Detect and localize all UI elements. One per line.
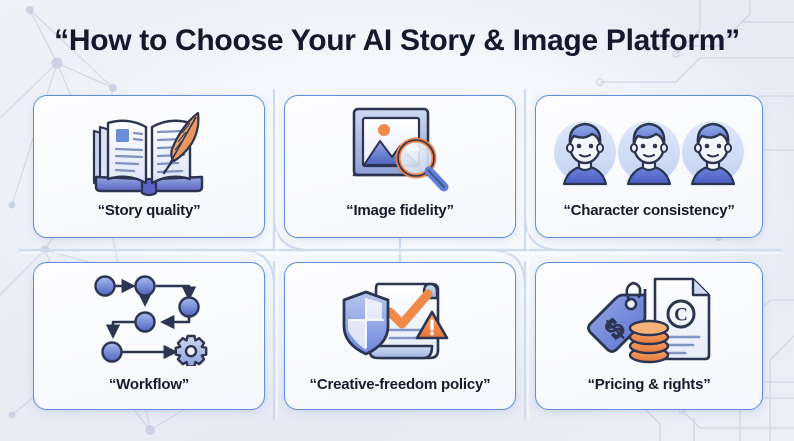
flowchart-nodes-with-gear-icon — [87, 274, 211, 366]
card-icon-slot: C S — [536, 263, 762, 376]
svg-text:C: C — [674, 304, 688, 325]
framed-picture-with-magnifier-icon — [344, 101, 456, 197]
flow-node-1 — [96, 276, 115, 295]
card-image-fidelity[interactable]: “Image fidelity” — [284, 95, 516, 238]
card-label: “Workflow” — [109, 376, 189, 409]
card-label: “Character consistency” — [563, 202, 734, 237]
card-icon-slot — [285, 96, 515, 202]
open-book-with-quill-icon — [86, 101, 212, 197]
price-tag-coins-copyright-doc-icon: C S — [581, 273, 717, 367]
card-icon-slot — [34, 263, 264, 376]
gear-icon — [176, 336, 206, 366]
card-creative-freedom-policy[interactable]: “Creative-freedom policy” — [284, 262, 516, 410]
avatar-3 — [682, 121, 744, 184]
card-character-consistency[interactable]: “Character consistency” — [535, 95, 763, 238]
flow-node-3 — [180, 297, 199, 316]
coin-stack-icon — [630, 321, 668, 362]
flow-node-4 — [136, 312, 155, 331]
infographic-canvas: “How to Choose Your AI Story & Image Pla… — [0, 0, 794, 441]
card-label: “Story quality” — [98, 202, 201, 237]
three-identical-avatars-icon — [554, 107, 744, 191]
card-label: “Image fidelity” — [346, 202, 454, 237]
card-icon-slot — [285, 263, 515, 376]
page-title: “How to Choose Your AI Story & Image Pla… — [0, 24, 794, 58]
shield-document-check-warning-icon — [336, 272, 464, 368]
avatar-2 — [618, 121, 680, 184]
card-icon-slot — [34, 96, 264, 202]
flow-node-2 — [136, 276, 155, 295]
card-label: “Pricing & rights” — [587, 376, 710, 409]
flow-node-5 — [103, 342, 122, 361]
card-icon-slot — [536, 96, 762, 202]
avatar-1 — [554, 121, 616, 184]
card-workflow[interactable]: “Workflow” — [33, 262, 265, 410]
card-pricing-rights[interactable]: C S — [535, 262, 763, 410]
card-label: “Creative-freedom policy” — [310, 376, 491, 409]
card-story-quality[interactable]: “Story quality” — [33, 95, 265, 238]
